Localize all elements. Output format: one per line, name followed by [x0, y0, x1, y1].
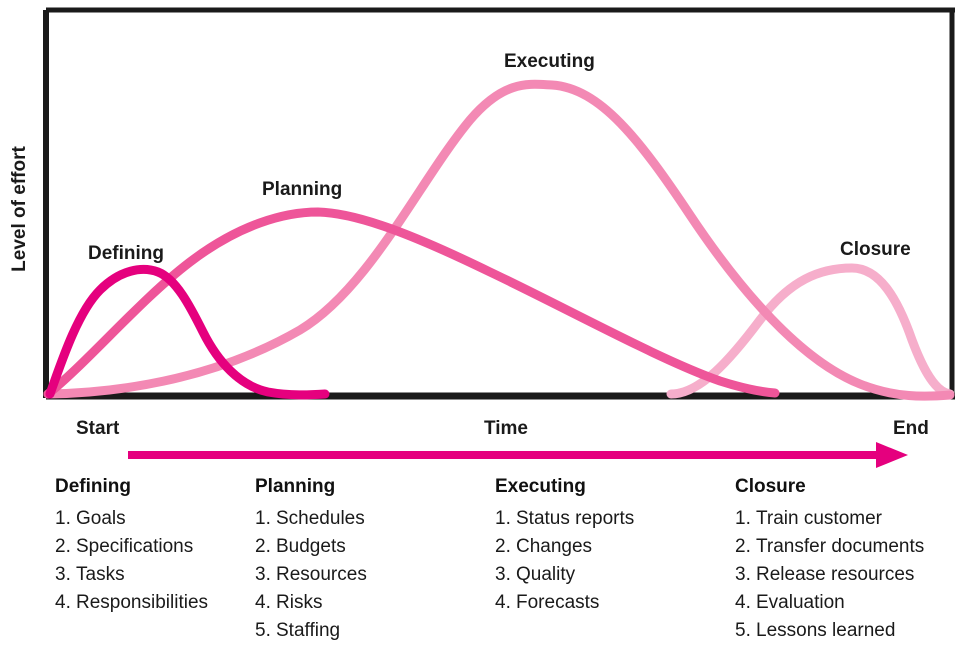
phase-list-executing: 1.Status reports 2.Changes 3.Quality 4.F… — [495, 505, 730, 617]
list-item-text: Lessons learned — [756, 620, 895, 641]
list-item-text: Train customer — [756, 508, 882, 529]
phase-column-defining: Defining 1.Goals 2.Specifications 3.Task… — [55, 476, 265, 617]
list-item: 4.Evaluation — [735, 589, 975, 617]
phase-list-defining: 1.Goals 2.Specifications 3.Tasks 4.Respo… — [55, 505, 265, 617]
list-item: 4.Risks — [255, 589, 485, 617]
curve-label-executing: Executing — [504, 51, 595, 73]
phase-list-planning: 1.Schedules 2.Budgets 3.Resources 4.Risk… — [255, 505, 485, 645]
list-item-text: Changes — [516, 536, 592, 557]
phase-deliverables-columns: Defining 1.Goals 2.Specifications 3.Task… — [0, 476, 975, 659]
list-item-number: 2. — [55, 533, 76, 561]
curve-label-planning: Planning — [262, 179, 342, 201]
list-item-text: Release resources — [756, 564, 914, 585]
lifecycle-curves-svg — [0, 0, 975, 410]
list-item-text: Quality — [516, 564, 575, 585]
curve-label-closure: Closure — [840, 239, 911, 261]
list-item-number: 3. — [735, 561, 756, 589]
list-item-text: Budgets — [276, 536, 346, 557]
curve-planning — [48, 212, 775, 394]
list-item: 2.Changes — [495, 533, 730, 561]
phase-title-closure: Closure — [735, 476, 975, 498]
list-item-number: 4. — [735, 589, 756, 617]
list-item-text: Transfer documents — [756, 536, 924, 557]
list-item-text: Schedules — [276, 508, 365, 529]
list-item: 2.Budgets — [255, 533, 485, 561]
list-item: 1.Schedules — [255, 505, 485, 533]
list-item: 1.Train customer — [735, 505, 975, 533]
time-arrow-head — [876, 442, 908, 468]
curve-label-defining: Defining — [88, 243, 164, 265]
list-item: 3.Tasks — [55, 561, 265, 589]
list-item-number: 5. — [735, 617, 756, 645]
list-item: 4.Forecasts — [495, 589, 730, 617]
list-item-text: Staffing — [276, 620, 340, 641]
phase-title-defining: Defining — [55, 476, 265, 498]
list-item-text: Forecasts — [516, 592, 599, 613]
phase-list-closure: 1.Train customer 2.Transfer documents 3.… — [735, 505, 975, 645]
list-item-number: 2. — [495, 533, 516, 561]
list-item: 3.Quality — [495, 561, 730, 589]
list-item: 3.Release resources — [735, 561, 975, 589]
list-item-text: Responsibilities — [76, 592, 208, 613]
list-item: 4.Responsibilities — [55, 589, 265, 617]
list-item-number: 2. — [735, 533, 756, 561]
list-item-text: Resources — [276, 564, 367, 585]
time-direction-arrow — [0, 412, 975, 474]
list-item-text: Status reports — [516, 508, 634, 529]
list-item-number: 1. — [495, 505, 516, 533]
list-item-number: 3. — [255, 561, 276, 589]
list-item-number: 4. — [255, 589, 276, 617]
list-item-number: 1. — [255, 505, 276, 533]
list-item-number: 4. — [495, 589, 516, 617]
phase-title-executing: Executing — [495, 476, 730, 498]
list-item-text: Specifications — [76, 536, 193, 557]
list-item: 1.Status reports — [495, 505, 730, 533]
list-item-text: Tasks — [76, 564, 125, 585]
list-item: 5.Staffing — [255, 617, 485, 645]
list-item: 5.Lessons learned — [735, 617, 975, 645]
list-item: 1.Goals — [55, 505, 265, 533]
list-item-number: 1. — [55, 505, 76, 533]
list-item-number: 4. — [55, 589, 76, 617]
phase-column-executing: Executing 1.Status reports 2.Changes 3.Q… — [495, 476, 730, 617]
list-item-number: 5. — [255, 617, 276, 645]
project-lifecycle-figure: Level of effort Defining Planning Execut… — [0, 0, 975, 659]
y-axis-label: Level of effort — [9, 124, 31, 294]
chart-plot-area: Level of effort Defining Planning Execut… — [0, 0, 975, 410]
list-item: 2.Specifications — [55, 533, 265, 561]
list-item-text: Risks — [276, 592, 322, 613]
list-item-number: 2. — [255, 533, 276, 561]
phase-column-planning: Planning 1.Schedules 2.Budgets 3.Resourc… — [255, 476, 485, 645]
list-item-number: 1. — [735, 505, 756, 533]
list-item-text: Evaluation — [756, 592, 845, 613]
list-item-number: 3. — [495, 561, 516, 589]
list-item-number: 3. — [55, 561, 76, 589]
x-axis-annotation-row: Start Time End — [0, 412, 975, 474]
phase-title-planning: Planning — [255, 476, 485, 498]
list-item: 2.Transfer documents — [735, 533, 975, 561]
list-item-text: Goals — [76, 508, 126, 529]
phase-column-closure: Closure 1.Train customer 2.Transfer docu… — [735, 476, 975, 645]
curve-executing — [48, 84, 950, 396]
list-item: 3.Resources — [255, 561, 485, 589]
